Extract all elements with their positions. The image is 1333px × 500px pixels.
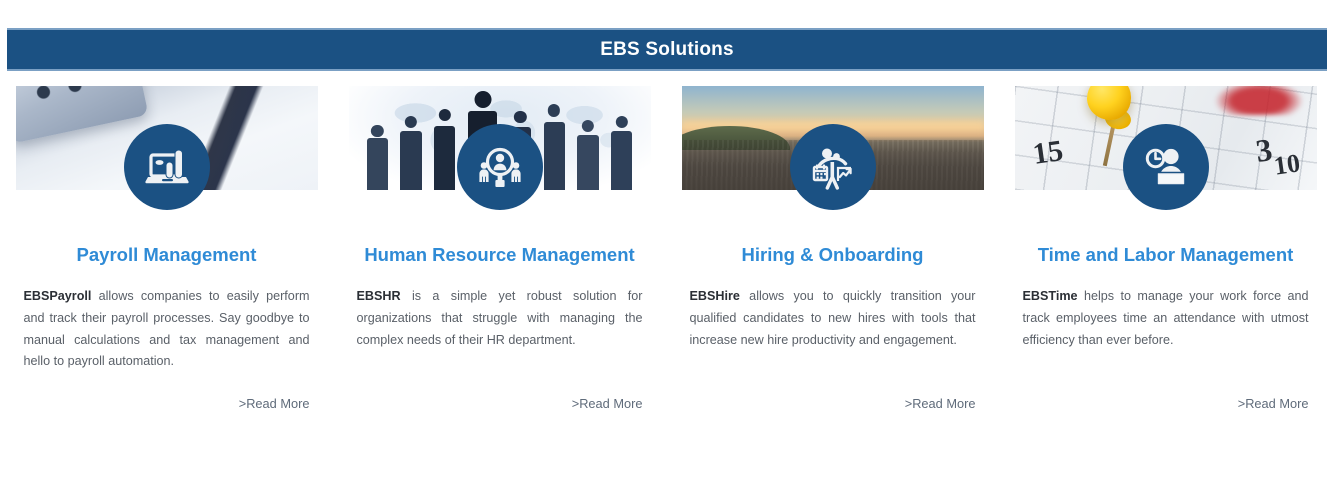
card-media-payroll (16, 80, 318, 230)
card-body-lead: EBSPayroll (24, 289, 92, 303)
card-body: EBSHR is a simple yet robust solution fo… (357, 286, 643, 351)
read-more-link[interactable]: >Read More (905, 396, 976, 411)
read-more-row: >Read More (24, 395, 310, 413)
solutions-card-row: Payroll Management EBSPayroll allows com… (0, 80, 1333, 413)
card-body: EBSHire allows you to quickly transition… (690, 286, 976, 351)
laptop-bar-chart-icon (124, 124, 210, 210)
calendar-number-10: 10 (1272, 149, 1302, 182)
card-body: EBSPayroll allows companies to easily pe… (24, 286, 310, 373)
solution-card-payroll-management[interactable]: Payroll Management EBSPayroll allows com… (0, 80, 333, 413)
read-more-row: >Read More (690, 395, 976, 413)
read-more-link[interactable]: >Read More (572, 396, 643, 411)
read-more-link[interactable]: >Read More (239, 396, 310, 411)
read-more-row: >Read More (1023, 395, 1309, 413)
card-body-lead: EBSTime (1023, 289, 1078, 303)
card-title: Hiring & Onboarding (742, 244, 924, 266)
read-more-link[interactable]: >Read More (1238, 396, 1309, 411)
card-body-lead: EBSHR (357, 289, 401, 303)
calendar-number-15: 15 (1030, 134, 1064, 172)
people-magnifier-icon (457, 124, 543, 210)
calendar-number-3: 3 (1254, 131, 1275, 170)
card-title: Human Resource Management (364, 244, 634, 266)
read-more-row: >Read More (357, 395, 643, 413)
card-title: Payroll Management (77, 244, 257, 266)
solution-card-time-and-labor-management[interactable]: 15 3 10 (999, 80, 1332, 413)
ebs-solutions-page: EBS Solutions (0, 0, 1333, 500)
page-title: EBS Solutions (600, 40, 734, 59)
card-title: Time and Labor Management (1038, 244, 1294, 266)
card-body: EBSTime helps to manage your work force … (1023, 286, 1309, 351)
section-header-bar: EBS Solutions (7, 28, 1327, 71)
card-media-hr (349, 80, 651, 230)
card-media-time: 15 3 10 (1015, 80, 1317, 230)
card-media-hiring (682, 80, 984, 230)
clock-person-desk-icon (1123, 124, 1209, 210)
person-calendar-growth-icon (790, 124, 876, 210)
card-body-lead: EBSHire (690, 289, 740, 303)
solution-card-hiring-and-onboarding[interactable]: Hiring & Onboarding EBSHire allows you t… (666, 80, 999, 413)
solution-card-human-resource-management[interactable]: Human Resource Management EBSHR is a sim… (333, 80, 666, 413)
